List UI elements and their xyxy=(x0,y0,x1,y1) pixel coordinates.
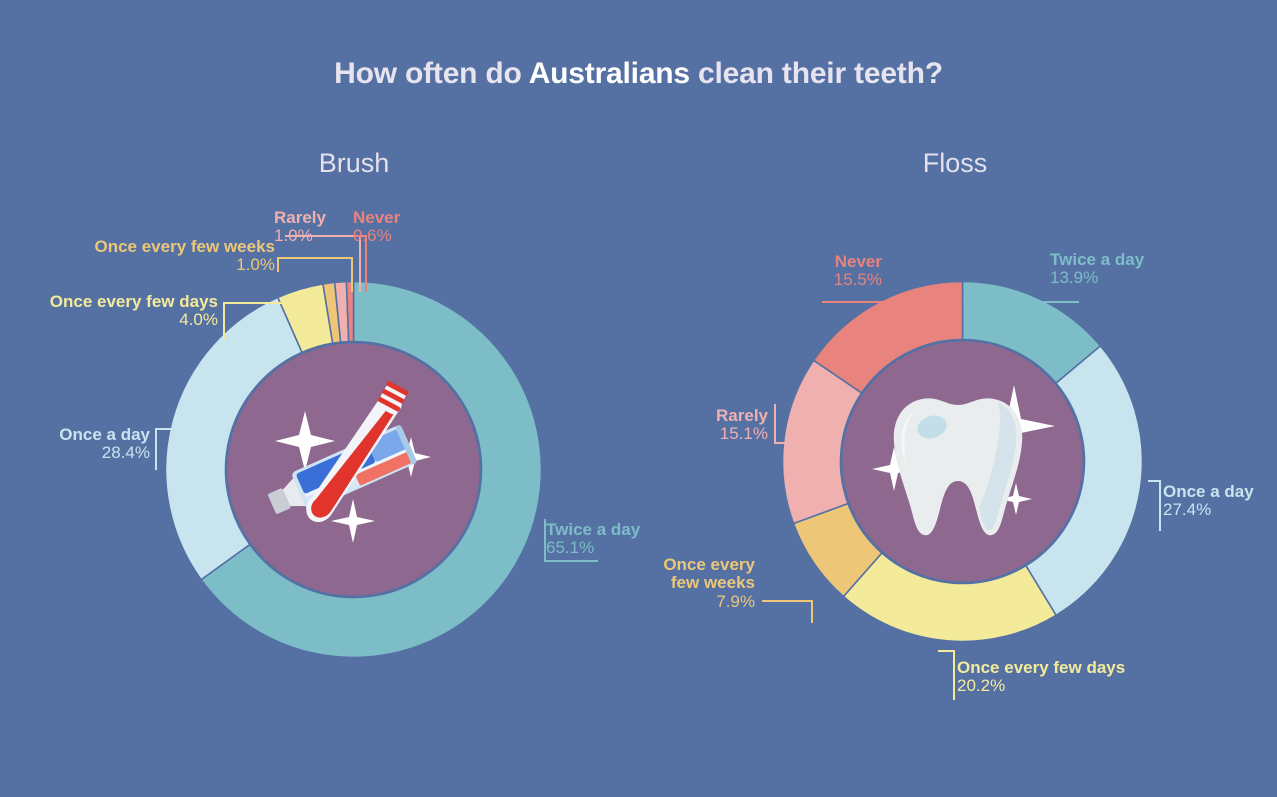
floss-label-twice-a-day-name: Twice a day xyxy=(1050,251,1210,269)
brush-label-never-value: 0.6% xyxy=(353,227,433,245)
page-title: How often do Australians clean their tee… xyxy=(0,57,1277,91)
floss-label-never-value: 15.5% xyxy=(742,271,882,289)
brush-label-rarely-name: Rarely xyxy=(274,209,354,227)
floss-label-once-every-few-days-name: Once every few days xyxy=(957,659,1177,677)
brush-label-once-a-day-value: 28.4% xyxy=(0,444,150,462)
brush-label-once-every-few-weeks-name: Once every few weeks xyxy=(60,238,275,256)
brush-label-twice-a-day: Twice a day 65.1% xyxy=(546,521,686,558)
brush-label-rarely-value: 1.0% xyxy=(274,227,354,245)
floss-label-once-every-few-weeks-name-line2: few weeks xyxy=(600,574,755,592)
floss-label-never-name: Never xyxy=(742,253,882,271)
infographic-canvas: How often do Australians clean their tee… xyxy=(0,0,1277,797)
floss-label-rarely-name: Rarely xyxy=(650,407,768,425)
donut-center-disc xyxy=(843,342,1083,582)
title-part-before: How often do xyxy=(334,57,529,90)
brush-label-never: Never 0.6% xyxy=(353,209,433,246)
floss-label-once-every-few-weeks-name-line1: Once every xyxy=(600,556,755,574)
brush-label-once-every-few-days-name: Once every few days xyxy=(18,293,218,311)
floss-label-once-every-few-weeks-value: 7.9% xyxy=(600,593,755,611)
floss-label-once-every-few-weeks: Once every few weeks 7.9% xyxy=(600,556,755,611)
brush-label-once-a-day: Once a day 28.4% xyxy=(0,426,150,463)
floss-label-twice-a-day-value: 13.9% xyxy=(1050,269,1210,287)
brush-label-twice-a-day-name: Twice a day xyxy=(546,521,686,539)
brush-label-once-every-few-days: Once every few days 4.0% xyxy=(18,293,218,330)
brush-label-once-a-day-name: Once a day xyxy=(0,426,150,444)
floss-label-once-a-day: Once a day 27.4% xyxy=(1163,483,1277,520)
brush-donut-svg xyxy=(165,281,542,658)
donut-center-disc xyxy=(228,344,480,596)
chart-heading-brush: Brush xyxy=(254,148,454,179)
floss-label-never: Never 15.5% xyxy=(742,253,882,290)
floss-donut-chart xyxy=(782,281,1143,642)
brush-label-once-every-few-weeks: Once every few weeks 1.0% xyxy=(60,238,275,275)
brush-label-never-name: Never xyxy=(353,209,433,227)
title-part-after: clean their teeth? xyxy=(690,57,943,90)
floss-label-once-every-few-days-value: 20.2% xyxy=(957,677,1177,695)
brush-label-once-every-few-days-value: 4.0% xyxy=(18,311,218,329)
floss-label-twice-a-day: Twice a day 13.9% xyxy=(1050,251,1210,288)
floss-label-rarely: Rarely 15.1% xyxy=(650,407,768,444)
floss-label-once-a-day-value: 27.4% xyxy=(1163,501,1277,519)
floss-label-rarely-value: 15.1% xyxy=(650,425,768,443)
brush-label-once-every-few-weeks-value: 1.0% xyxy=(60,256,275,274)
floss-label-once-a-day-name: Once a day xyxy=(1163,483,1277,501)
brush-donut-chart xyxy=(165,281,542,658)
brush-label-rarely: Rarely 1.0% xyxy=(274,209,354,246)
floss-donut-svg xyxy=(782,281,1143,642)
chart-heading-floss: Floss xyxy=(855,148,1055,179)
floss-label-once-every-few-days: Once every few days 20.2% xyxy=(957,659,1177,696)
title-emphasis: Australians xyxy=(529,57,690,90)
